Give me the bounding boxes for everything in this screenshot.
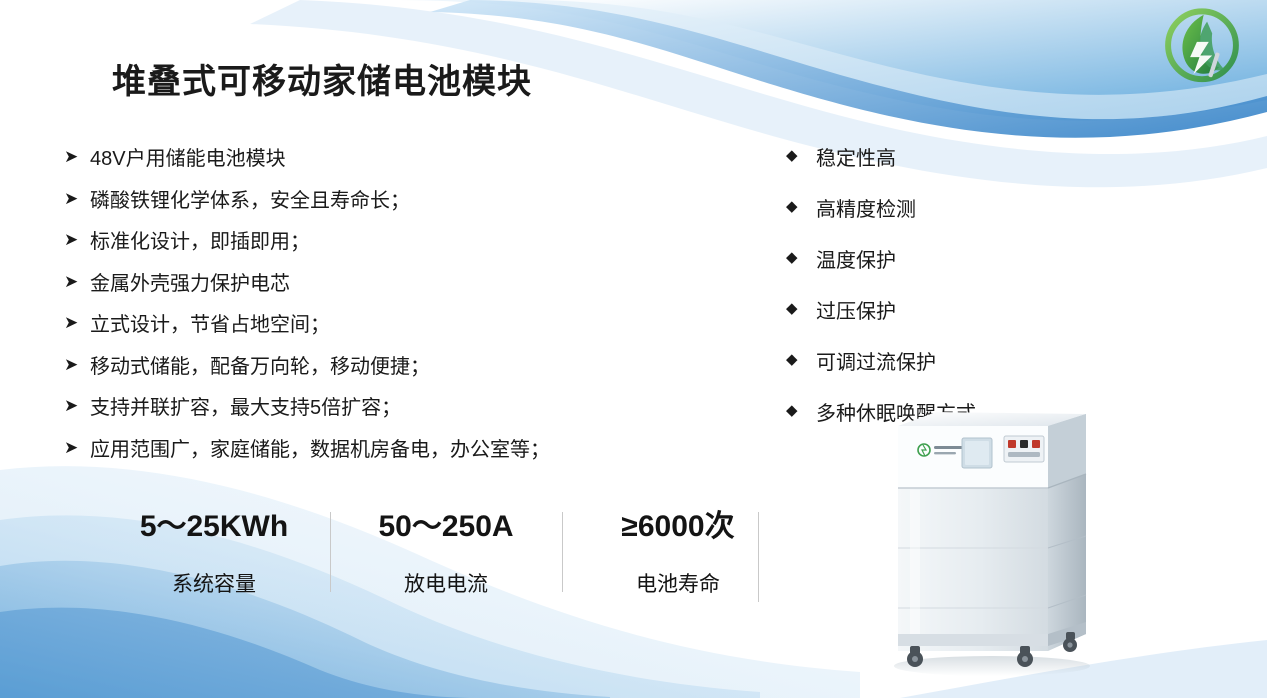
list-item-label: 稳定性高: [816, 146, 896, 172]
arrow-bullet-icon: ➤: [64, 354, 90, 377]
list-item: ◆ 温度保护: [786, 248, 1106, 274]
list-item: ➤ 应用范围广，家庭储能，数据机房备电，办公室等；: [64, 437, 704, 463]
list-item-label: 金属外壳强力保护电芯: [90, 271, 290, 297]
diamond-bullet-icon: ◆: [786, 401, 816, 421]
diamond-bullet-icon: ◆: [786, 248, 816, 268]
spec-cycle-life: ≥6000次 电池寿命: [562, 508, 794, 598]
diamond-bullet-icon: ◆: [786, 299, 816, 319]
list-item: ➤ 标准化设计，即插即用；: [64, 229, 704, 255]
company-logo-icon: [1159, 8, 1245, 86]
spec-capacity: 5～25KWh 系统容量: [98, 508, 330, 598]
list-item: ➤ 磷酸铁锂化学体系，安全且寿命长；: [64, 188, 704, 214]
list-item: ◆ 稳定性高: [786, 146, 1106, 172]
list-item-label: 立式设计，节省占地空间；: [90, 312, 330, 338]
list-item-label: 应用范围广，家庭储能，数据机房备电，办公室等；: [90, 437, 550, 463]
arrow-bullet-icon: ➤: [64, 395, 90, 418]
left-feature-list: ➤ 48V户用储能电池模块 ➤ 磷酸铁锂化学体系，安全且寿命长； ➤ 标准化设计…: [64, 146, 704, 478]
arrow-bullet-icon: ➤: [64, 188, 90, 211]
list-item-label: 磷酸铁锂化学体系，安全且寿命长；: [90, 188, 410, 214]
spec-label: 电池寿命: [568, 568, 788, 598]
diamond-bullet-icon: ◆: [786, 146, 816, 166]
list-item: ➤ 立式设计，节省占地空间；: [64, 312, 704, 338]
list-item: ◆ 可调过流保护: [786, 350, 1106, 376]
diamond-bullet-icon: ◆: [786, 197, 816, 217]
list-item-label: 标准化设计，即插即用；: [90, 229, 310, 255]
spec-discharge-current: 50～250A 放电电流: [330, 508, 562, 598]
list-item: ➤ 金属外壳强力保护电芯: [64, 271, 704, 297]
list-item-label: 48V户用储能电池模块: [90, 146, 286, 172]
list-item: ◆ 过压保护: [786, 299, 1106, 325]
list-item-label: 支持并联扩容，最大支持5倍扩容；: [90, 395, 401, 421]
list-item-label: 可调过流保护: [816, 350, 936, 376]
spec-divider: [758, 512, 759, 602]
spec-highlights: 5～25KWh 系统容量 50～250A 放电电流 ≥6000次 电池寿命: [98, 508, 794, 598]
list-item-label: 过压保护: [816, 299, 896, 325]
spec-label: 放电电流: [336, 568, 556, 598]
list-item: ◆ 高精度检测: [786, 197, 1106, 223]
arrow-bullet-icon: ➤: [64, 146, 90, 169]
list-item-label: 高精度检测: [816, 197, 916, 223]
arrow-bullet-icon: ➤: [64, 312, 90, 335]
spec-value: 50～250A: [336, 508, 556, 546]
product-image: [880, 398, 1110, 678]
list-item-label: 移动式储能，配备万向轮，移动便捷；: [90, 354, 430, 380]
slide-root: 堆叠式可移动家储电池模块 ➤ 48V户用储能电池模块 ➤ 磷酸铁锂化学体系，安全…: [0, 0, 1267, 698]
spec-value: 5～25KWh: [104, 508, 324, 546]
list-item: ➤ 48V户用储能电池模块: [64, 146, 704, 172]
arrow-bullet-icon: ➤: [64, 271, 90, 294]
spec-value: ≥6000次: [568, 508, 788, 546]
list-item-label: 温度保护: [816, 248, 896, 274]
list-item: ➤ 移动式储能，配备万向轮，移动便捷；: [64, 354, 704, 380]
arrow-bullet-icon: ➤: [64, 437, 90, 460]
arrow-bullet-icon: ➤: [64, 229, 90, 252]
page-title: 堆叠式可移动家储电池模块: [112, 54, 532, 103]
list-item: ➤ 支持并联扩容，最大支持5倍扩容；: [64, 395, 704, 421]
spec-label: 系统容量: [104, 568, 324, 598]
diamond-bullet-icon: ◆: [786, 350, 816, 370]
